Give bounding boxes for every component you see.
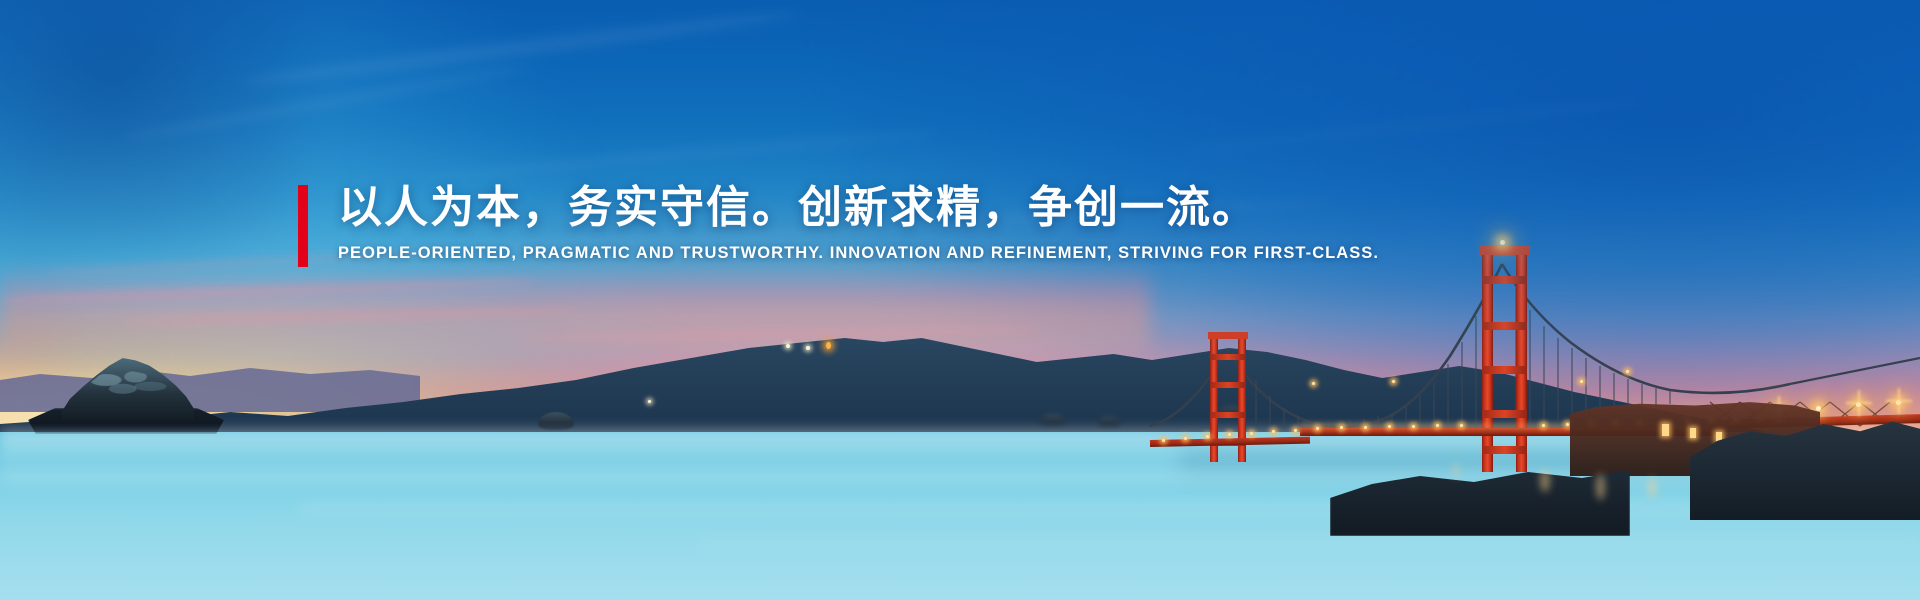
light-reflection <box>1540 470 1550 492</box>
building-window-light <box>1716 432 1722 441</box>
ridge-light <box>786 344 790 348</box>
ridge-light <box>806 346 810 350</box>
light-reflection <box>1648 478 1656 498</box>
water-band <box>700 540 1920 548</box>
light-reflection <box>1452 462 1460 478</box>
foreground-rock <box>538 412 574 430</box>
hero-subheadline: PEOPLE-ORIENTED, PRAGMATIC AND TRUSTWORT… <box>338 243 1598 264</box>
building-window-light <box>1662 424 1669 436</box>
red-accent-bar <box>298 185 308 267</box>
light-reflection <box>1596 474 1605 500</box>
hero-banner: 以人为本，务实守信。创新求精，争创一流。 PEOPLE-ORIENTED, PR… <box>0 0 1920 600</box>
ridge-light <box>648 400 651 403</box>
hero-text-block: 以人为本，务实守信。创新求精，争创一流。 PEOPLE-ORIENTED, PR… <box>298 182 1598 264</box>
building-window-light <box>1690 428 1696 438</box>
foreground-rock <box>1098 416 1120 427</box>
roadway-lamp <box>1816 406 1821 411</box>
ridge-light <box>826 342 831 349</box>
foreground-rock <box>1040 414 1066 426</box>
hero-headline: 以人为本，务实守信。创新求精，争创一流。 <box>338 182 1598 234</box>
